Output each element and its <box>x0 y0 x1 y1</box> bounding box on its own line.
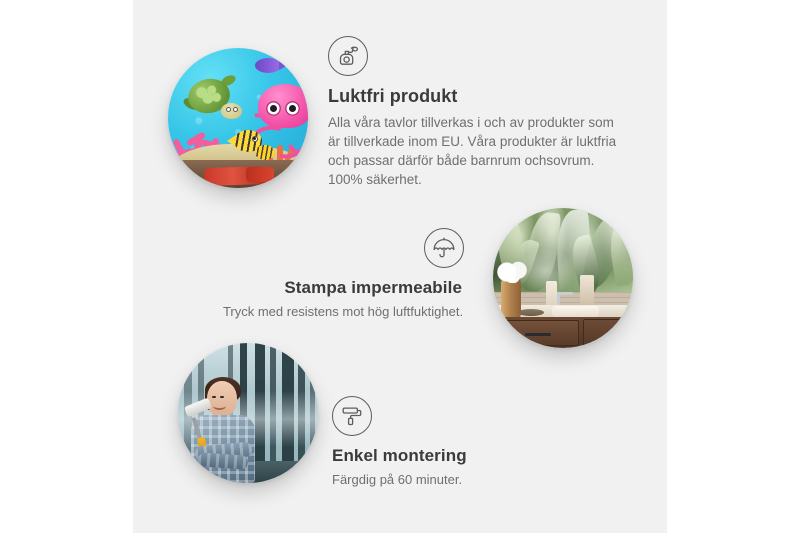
feature-odorless: Luktfri produkt Alla våra tavlor tillver… <box>328 36 628 189</box>
paint-roller-icon <box>332 396 372 436</box>
sea-illustration <box>168 48 308 188</box>
vase-shape <box>501 278 521 322</box>
umbrella-icon <box>424 228 464 268</box>
feature-title: Stampa impermeabile <box>222 277 464 298</box>
woman-with-roller-shape <box>186 379 267 483</box>
no-perfume-icon <box>328 36 368 76</box>
product-image-bathroom[interactable] <box>493 208 633 348</box>
product-image-sea[interactable] <box>168 48 308 188</box>
screenshot-root: Luktfri produkt Alla våra tavlor tillver… <box>0 0 800 533</box>
feature-title: Luktfri produkt <box>328 85 628 107</box>
feature-easy-mounting: Enkel montering Färgdig på 60 minuter. <box>332 396 582 489</box>
feature-title: Enkel montering <box>332 445 582 466</box>
product-image-forest[interactable] <box>178 343 318 483</box>
fish-yellow-small-shape <box>255 145 275 160</box>
flowers-shape <box>496 261 532 283</box>
bathroom-photo <box>493 208 633 348</box>
feature-waterproof: Stampa impermeabile Tryck med resistens … <box>222 228 464 321</box>
feature-body: Färgdig på 60 minuter. <box>332 471 582 489</box>
fish-purple-shape <box>255 58 281 73</box>
feature-body: Tryck med resistens mot hög luftfuktighe… <box>222 303 464 321</box>
forest-photo <box>178 343 318 483</box>
turtle-shape <box>188 79 238 117</box>
feature-body: Alla våra tavlor tillverkas i och av pro… <box>328 113 628 189</box>
